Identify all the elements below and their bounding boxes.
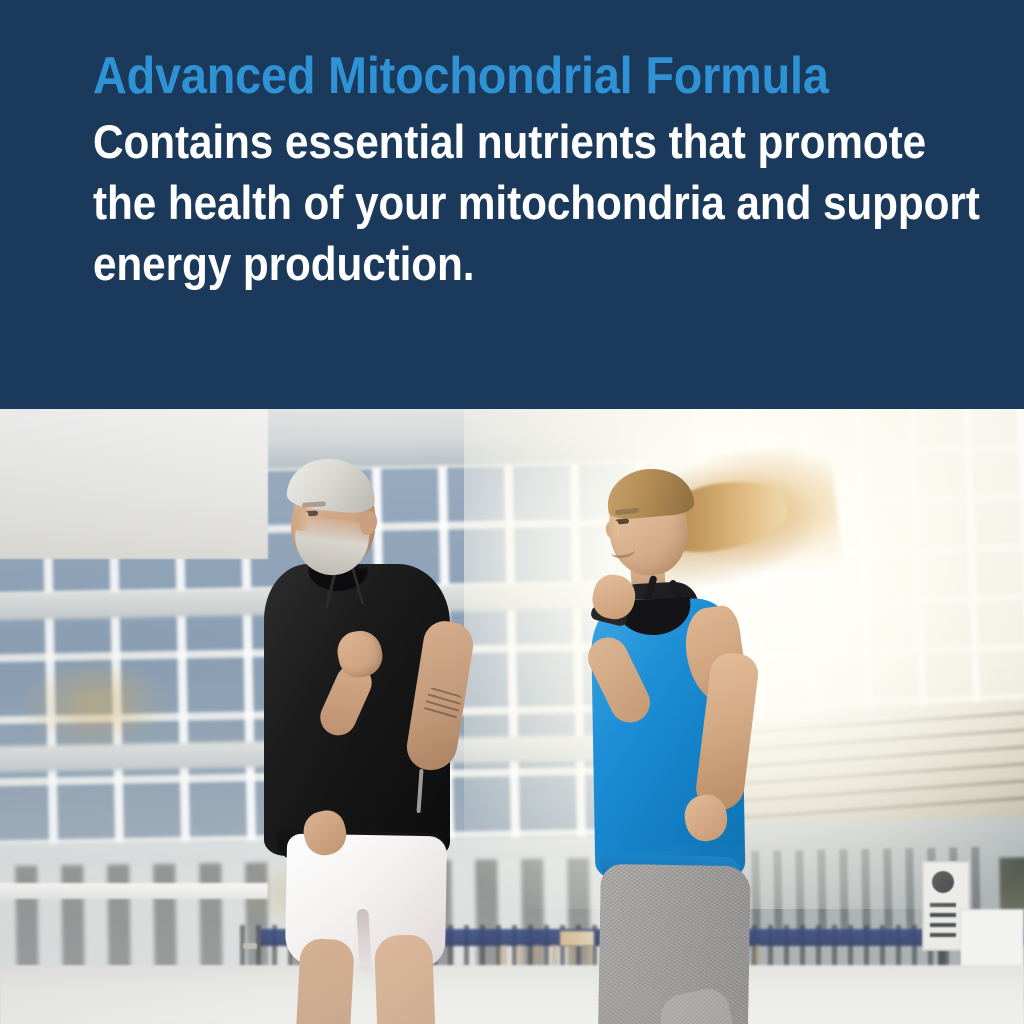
male-left-thigh: [295, 938, 355, 1024]
female-nose: [605, 520, 620, 539]
street-sign-text-bars: [930, 903, 956, 937]
banner-body-text: Contains essential nutrients that promot…: [93, 107, 984, 294]
page-title: Advanced Mitochondrial Formula: [93, 45, 876, 107]
female-runner: [575, 457, 805, 1024]
utility-box: [0, 409, 268, 559]
street-sign-logo-icon: [932, 871, 954, 893]
product-ad-card: Advanced Mitochondrial Formula Contains …: [0, 0, 1024, 1024]
utility-box-handle: [243, 943, 257, 949]
banner-text-block: Advanced Mitochondrial Formula Contains …: [93, 45, 963, 294]
headline-banner: Advanced Mitochondrial Formula Contains …: [0, 0, 1024, 409]
male-runner: [260, 439, 480, 1024]
window-warm-glow: [20, 659, 170, 749]
lifestyle-photo: [0, 409, 1024, 1024]
pavement: [0, 965, 1024, 1024]
utility-box-lid: [0, 883, 268, 899]
male-right-thigh: [374, 934, 436, 1024]
